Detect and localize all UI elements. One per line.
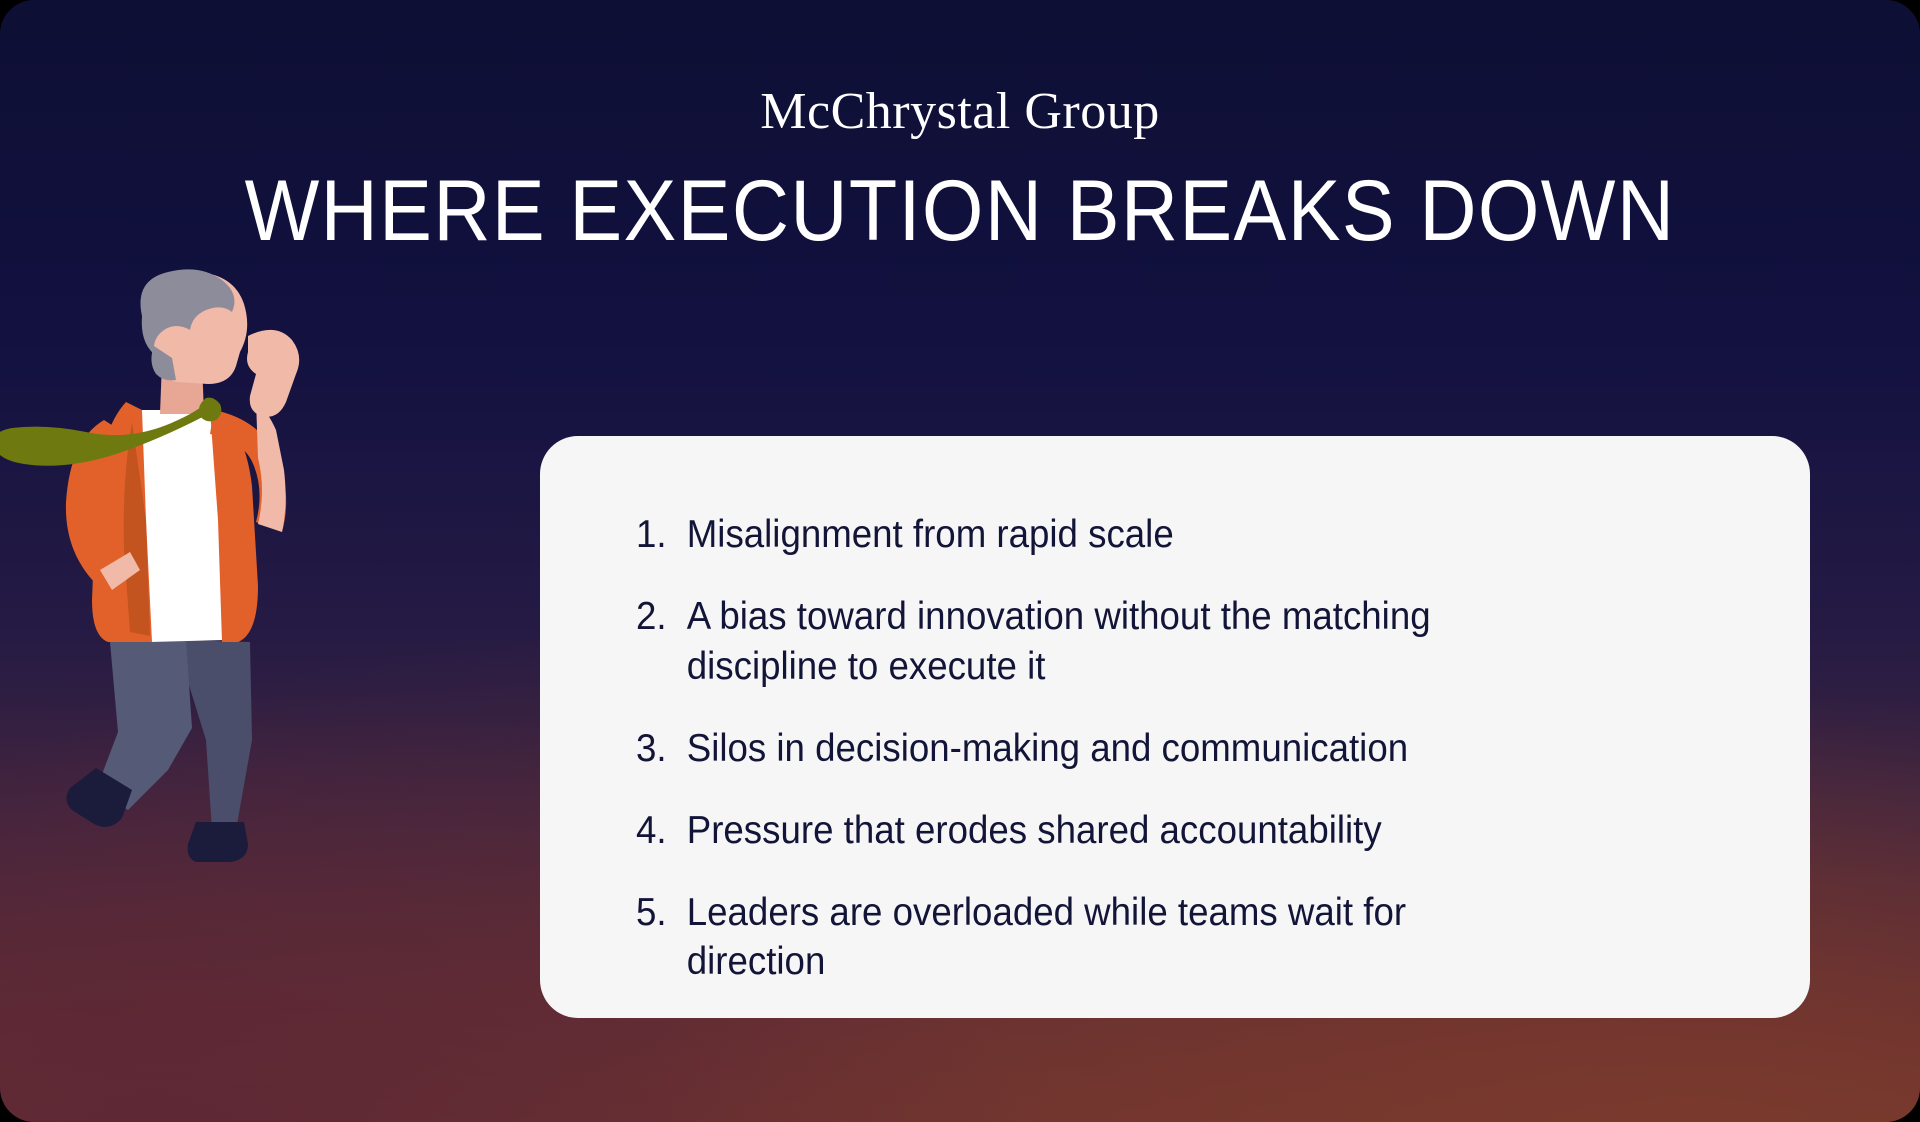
list-item: 4. Pressure that erodes shared accountab… — [636, 806, 1674, 856]
thinking-person-illustration — [0, 270, 360, 890]
list-item-text: A bias toward innovation without the mat… — [687, 592, 1448, 692]
page-title: WHERE EXECUTION BREAKS DOWN — [77, 168, 1843, 256]
forearm-right — [256, 400, 286, 532]
list-item-text: Leaders are overloaded while teams wait … — [687, 888, 1448, 988]
list-item: 1. Misalignment from rapid scale — [636, 510, 1674, 560]
list-item-number: 1. — [636, 510, 687, 560]
brand-logo: McChrystal Group — [0, 86, 1920, 138]
list-item: 5. Leaders are overloaded while teams wa… — [636, 888, 1674, 988]
list-item-number: 3. — [636, 724, 687, 774]
list-item: 3. Silos in decision-making and communic… — [636, 724, 1674, 774]
list-item: 2. A bias toward innovation without the … — [636, 592, 1674, 692]
list-item-text: Silos in decision-making and communicati… — [687, 724, 1448, 774]
points-list: 1. Misalignment from rapid scale 2. A bi… — [636, 510, 1740, 987]
list-item-number: 4. — [636, 806, 687, 856]
hand-right — [247, 330, 299, 417]
slide-canvas: McChrystal Group WHERE EXECUTION BREAKS … — [0, 0, 1920, 1122]
list-item-text: Pressure that erodes shared accountabili… — [687, 806, 1448, 856]
list-item-number: 5. — [636, 888, 687, 938]
list-item-text: Misalignment from rapid scale — [687, 510, 1448, 560]
shoe-back — [188, 822, 248, 862]
list-item-number: 2. — [636, 592, 687, 642]
points-card: 1. Misalignment from rapid scale 2. A bi… — [540, 436, 1810, 1018]
